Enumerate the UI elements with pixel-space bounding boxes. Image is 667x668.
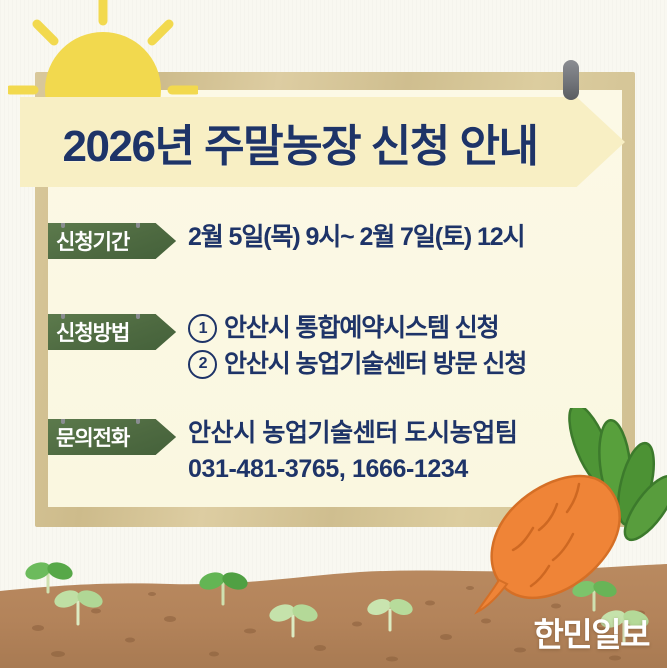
tag-wrap-contact: 문의전화 <box>48 410 188 455</box>
tag-wrap-method: 신청방법 <box>48 305 188 350</box>
page-title: 2026년 주말농장 신청 안내 <box>20 97 580 187</box>
tag-wrap-period: 신청기간 <box>48 214 188 259</box>
info-body-method: 1 안산시 통합예약시스템 신청 2 안산시 농업기술센터 방문 신청 <box>188 305 628 382</box>
nail-icon <box>61 216 65 228</box>
tag-label-method: 신청방법 <box>48 317 129 347</box>
tag-label-contact: 문의전화 <box>48 422 129 452</box>
poster-canvas: 2026년 주말농장 신청 안내 신청기간 2월 5일(목) 9시~ 2월 7일… <box>0 0 667 668</box>
number-circle-2: 2 <box>188 350 217 379</box>
method-text-1: 안산시 통합예약시스템 신청 <box>224 311 499 347</box>
period-value: 2월 5일(목) 9시~ 2월 7일(토) 12시 <box>188 220 628 256</box>
pin-icon <box>563 60 579 100</box>
info-body-period: 2월 5일(목) 9시~ 2월 7일(토) 12시 <box>188 214 628 256</box>
method-item-1: 1 안산시 통합예약시스템 신청 <box>188 311 628 347</box>
tag-contact: 문의전화 <box>48 419 176 455</box>
nail-icon <box>61 307 65 319</box>
tag-method: 신청방법 <box>48 314 176 350</box>
title-banner: 2026년 주말농장 신청 안내 <box>20 97 625 187</box>
nail-icon <box>61 412 65 424</box>
number-circle-1: 1 <box>188 314 217 343</box>
tag-period: 신청기간 <box>48 223 176 259</box>
watermark: 한민일보 <box>534 608 649 656</box>
method-text-2: 안산시 농업기술센터 방문 신청 <box>224 347 526 383</box>
method-item-2: 2 안산시 농업기술센터 방문 신청 <box>188 347 628 383</box>
info-row-period: 신청기간 2월 5일(목) 9시~ 2월 7일(토) 12시 <box>48 214 628 259</box>
nail-icon <box>136 307 140 319</box>
info-row-method: 신청방법 1 안산시 통합예약시스템 신청 2 안산시 농업기술센터 방문 신청 <box>48 305 628 382</box>
tag-label-period: 신청기간 <box>48 226 129 256</box>
nail-icon <box>136 216 140 228</box>
nail-icon <box>136 412 140 424</box>
